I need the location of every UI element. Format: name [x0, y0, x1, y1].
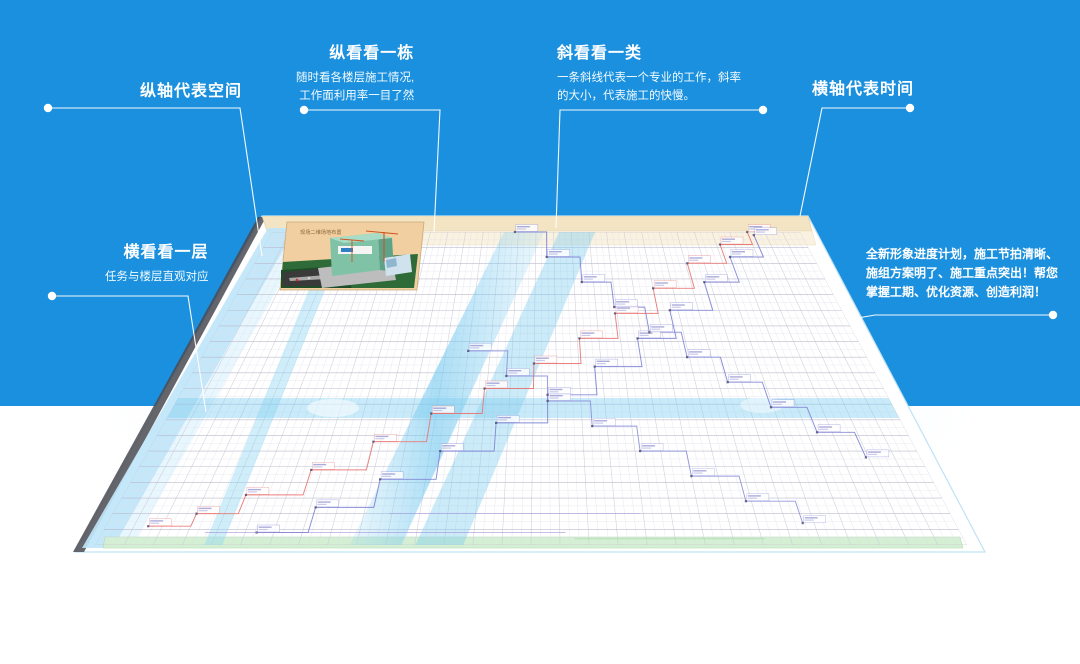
annotation-building-column: 纵看看一栋 随时看各楼层施工情况,工作面利用率一目了然	[296, 44, 414, 105]
annotation-slope-trade-desc: 一条斜线代表一个专业的工作，斜率的大小，代表施工的快慢。	[557, 70, 741, 106]
white-background-panel	[0, 406, 1080, 664]
annotation-floor-row-title: 横看看一层	[105, 243, 209, 264]
annotation-time-axis: 横轴代表时间	[812, 80, 914, 101]
annotation-space-axis: 纵轴代表空间	[140, 82, 242, 103]
annotation-slope-trade-title: 斜看看一类	[557, 44, 741, 65]
annotation-floor-row-desc: 任务与楼层直观对应	[105, 269, 209, 287]
blue-background-panel	[0, 0, 1080, 406]
annotation-slope-trade: 斜看看一类 一条斜线代表一个专业的工作，斜率的大小，代表施工的快慢。	[557, 44, 741, 105]
poster-root: 现场二维场地布置 纵轴代表空间 横看看一层 任务与楼层直观对应 纵看看一栋 随时…	[0, 0, 1080, 664]
annotation-building-column-desc: 随时看各楼层施工情况,工作面利用率一目了然	[296, 70, 414, 106]
annotation-building-column-title: 纵看看一栋	[296, 44, 414, 65]
annotation-summary: 全新形象进度计划，施工节拍清晰、施组方案明了、施工重点突出！帮您掌握工期、优化资…	[866, 240, 1058, 303]
annotation-space-axis-title: 纵轴代表空间	[140, 82, 242, 103]
annotation-time-axis-title: 横轴代表时间	[812, 80, 914, 101]
annotation-summary-desc: 全新形象进度计划，施工节拍清晰、施组方案明了、施工重点突出！帮您掌握工期、优化资…	[866, 245, 1058, 303]
annotation-floor-row: 横看看一层 任务与楼层直观对应	[105, 243, 209, 287]
